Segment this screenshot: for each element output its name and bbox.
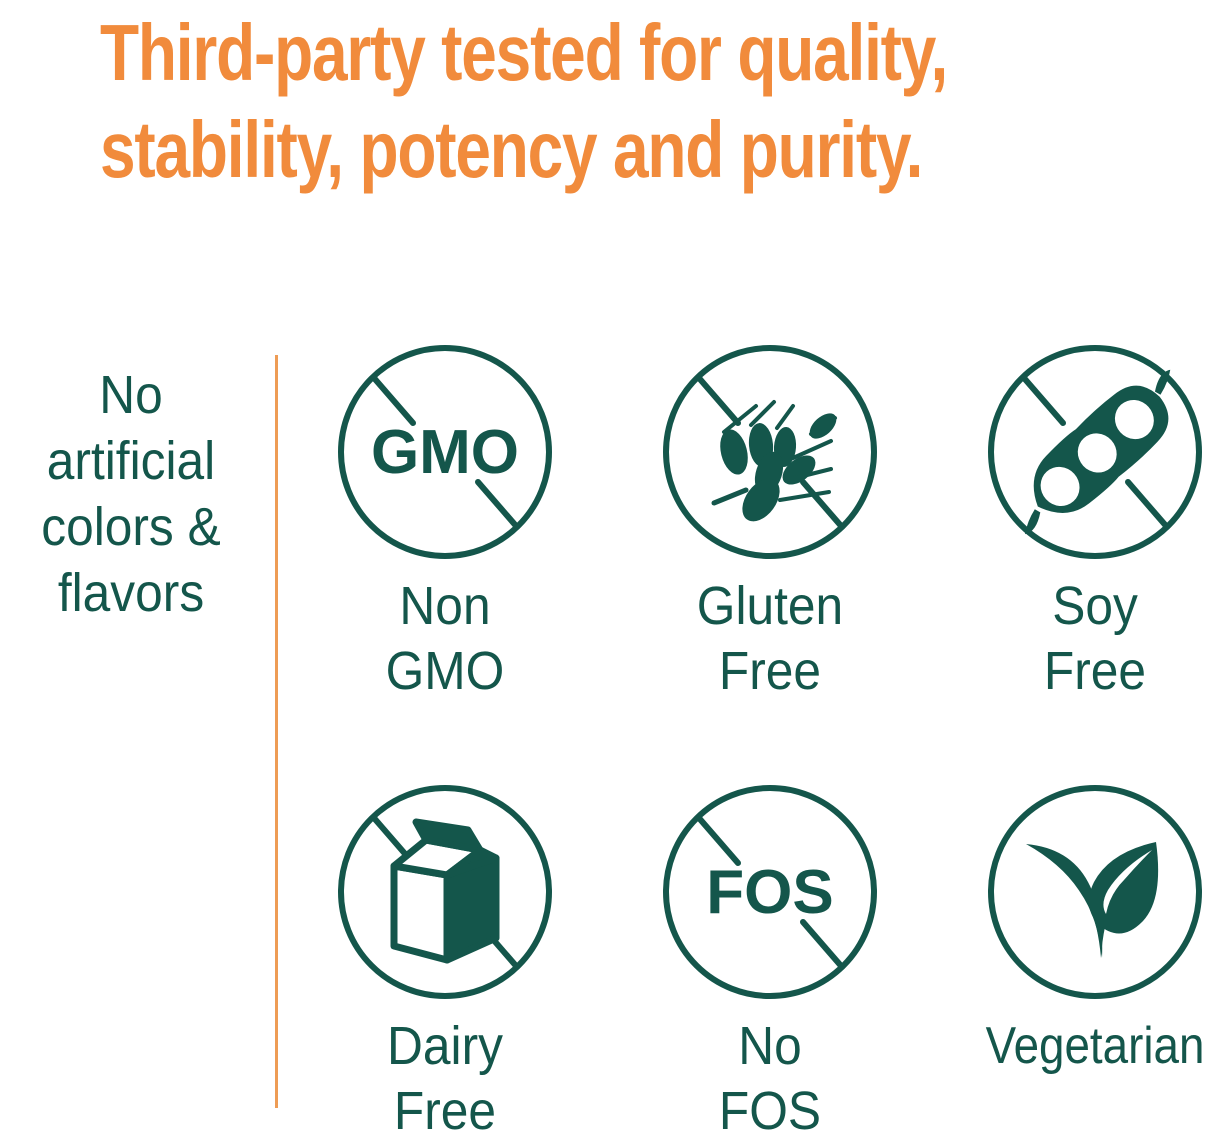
badge-label-dairy-free: Dairy Free [312,1014,579,1144]
no-fos-inner-text: FOS [706,858,833,927]
badge-no-fos: FOS No FOS [625,780,915,1144]
vegetarian-sprout-icon [950,780,1214,1010]
headline: Third-party tested for quality, stabilit… [100,4,1180,198]
badge-label-gluten-free: Gluten Free [637,574,904,704]
no-fos-icon: FOS [625,780,915,1010]
certification-badge-grid: GMO Non GMO [300,340,1214,1145]
vertical-divider [275,355,278,1108]
headline-line-1: Third-party tested for quality, [100,4,964,101]
badge-non-gmo: GMO Non GMO [300,340,590,704]
soybean-pod-icon [950,340,1214,570]
badge-gluten-free: Gluten Free [625,340,915,704]
milk-carton-icon [300,780,590,1010]
badge-label-no-fos: No FOS [637,1014,904,1144]
badge-label-non-gmo: Non GMO [312,574,579,704]
wheat-icon [625,340,915,570]
badge-vegetarian: Vegetarian [950,780,1214,1079]
non-gmo-icon: GMO [300,340,590,570]
badge-dairy-free: Dairy Free [300,780,590,1144]
non-gmo-inner-text: GMO [371,418,519,487]
badge-label-soy-free: Soy Free [962,574,1214,704]
headline-line-2: stability, potency and purity. [100,101,964,198]
no-artificial-colors-caption: No artificial colors & flavors [10,362,251,626]
badge-label-vegetarian: Vegetarian [967,1014,1214,1079]
badge-soy-free: Soy Free [950,340,1214,704]
